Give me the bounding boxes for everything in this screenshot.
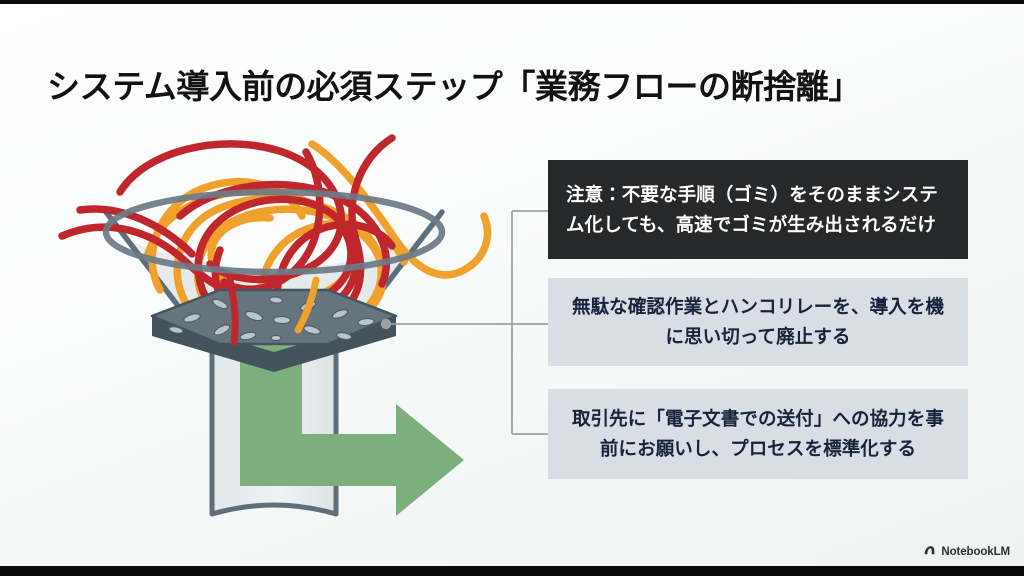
callout-text: 無駄な確認作業とハンコリレーを、導入を機に思い切って廃止する [566, 292, 950, 352]
page-title: システム導入前の必須ステップ「業務フローの断捨離」 [47, 66, 861, 107]
callout-box-warning: 注意：不要な手順（ゴミ）をそのままシステム化しても、高速でゴミが生み出されるだけ [548, 160, 968, 259]
callout-box-abolish: 無駄な確認作業とハンコリレーを、導入を機に思い切って廃止する [548, 278, 968, 366]
callout-text: 取引先に「電子文書での送付」への協力を事前にお願いし、プロセスを標準化する [566, 404, 950, 464]
letterbox-bar-top [0, 0, 1024, 4]
callout-text: 注意：不要な手順（ゴミ）をそのままシステム化しても、高速でゴミが生み出されるだけ [566, 180, 950, 240]
slide-canvas: システム導入前の必須ステップ「業務フローの断捨離」 [0, 0, 1024, 576]
notebooklm-watermark: NotebookLM [923, 544, 1010, 560]
notebooklm-icon [923, 544, 936, 560]
funnel-illustration [44, 104, 504, 540]
callout-box-standardize: 取引先に「電子文書での送付」への協力を事前にお願いし、プロセスを標準化する [548, 389, 968, 479]
watermark-label: NotebookLM [941, 546, 1010, 558]
letterbox-bar-bottom [0, 566, 1024, 576]
filter-plate [152, 290, 396, 372]
